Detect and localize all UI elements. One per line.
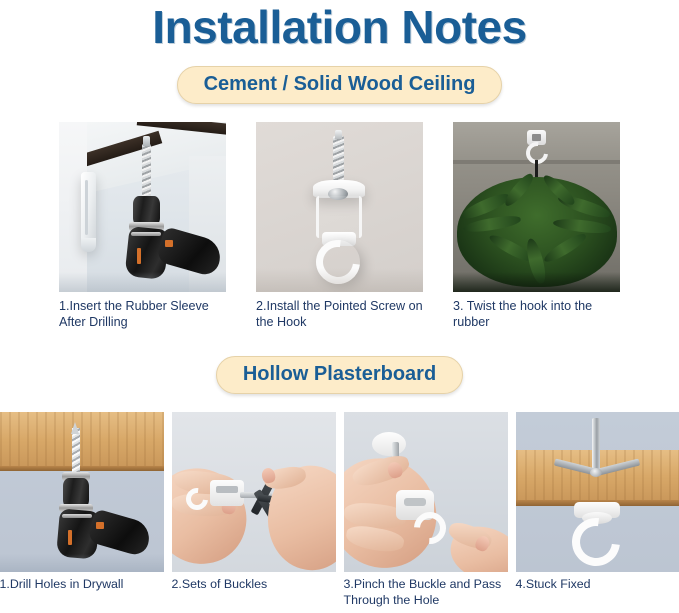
step-caption: 1.Insert the Rubber Sleeve After Drillin… — [59, 298, 226, 330]
step-caption: 2.Sets of Buckles — [172, 577, 336, 593]
toggle-anchor-fixed-photo — [516, 412, 679, 572]
step-item: 3.Pinch the Buckle and Pass Through the … — [344, 412, 508, 609]
step-item: 3. Twist the hook into the rubber — [453, 122, 620, 330]
fern-hanging-from-hook-photo — [453, 122, 620, 292]
section-cement-steps: 1.Insert the Rubber Sleeve After Drillin… — [0, 122, 679, 330]
step-caption: 1.Drill Holes in Drywall — [0, 577, 164, 593]
drilling-hole-in-drywall-photo — [0, 412, 164, 572]
section-heading-label: Cement / Solid Wood Ceiling — [177, 66, 503, 104]
installation-notes-page: Installation Notes Cement / Solid Wood C… — [0, 0, 679, 613]
hook-with-pointed-screw-photo — [256, 122, 423, 292]
step-caption: 3.Pinch the Buckle and Pass Through the … — [344, 577, 508, 609]
section-plasterboard-steps: 1.Drill Holes in Drywall — [0, 412, 679, 609]
step-item: 4.Stuck Fixed — [516, 412, 679, 609]
section-heading-cement: Cement / Solid Wood Ceiling — [0, 66, 679, 104]
page-title: Installation Notes — [0, 0, 679, 50]
step-item: 1.Insert the Rubber Sleeve After Drillin… — [59, 122, 226, 330]
section-heading-label: Hollow Plasterboard — [216, 356, 463, 394]
step-item: 1.Drill Holes in Drywall — [0, 412, 164, 609]
pinching-buckle-photo — [344, 412, 508, 572]
sets-of-buckles-photo — [172, 412, 336, 572]
step-caption: 3. Twist the hook into the rubber — [453, 298, 620, 330]
step-caption: 4.Stuck Fixed — [516, 577, 679, 593]
section-heading-plasterboard: Hollow Plasterboard — [0, 356, 679, 394]
step-item: 2.Install the Pointed Screw on the Hook — [256, 122, 423, 330]
step-caption: 2.Install the Pointed Screw on the Hook — [256, 298, 423, 330]
drill-inserting-rubber-sleeve-photo — [59, 122, 226, 292]
step-item: 2.Sets of Buckles — [172, 412, 336, 609]
